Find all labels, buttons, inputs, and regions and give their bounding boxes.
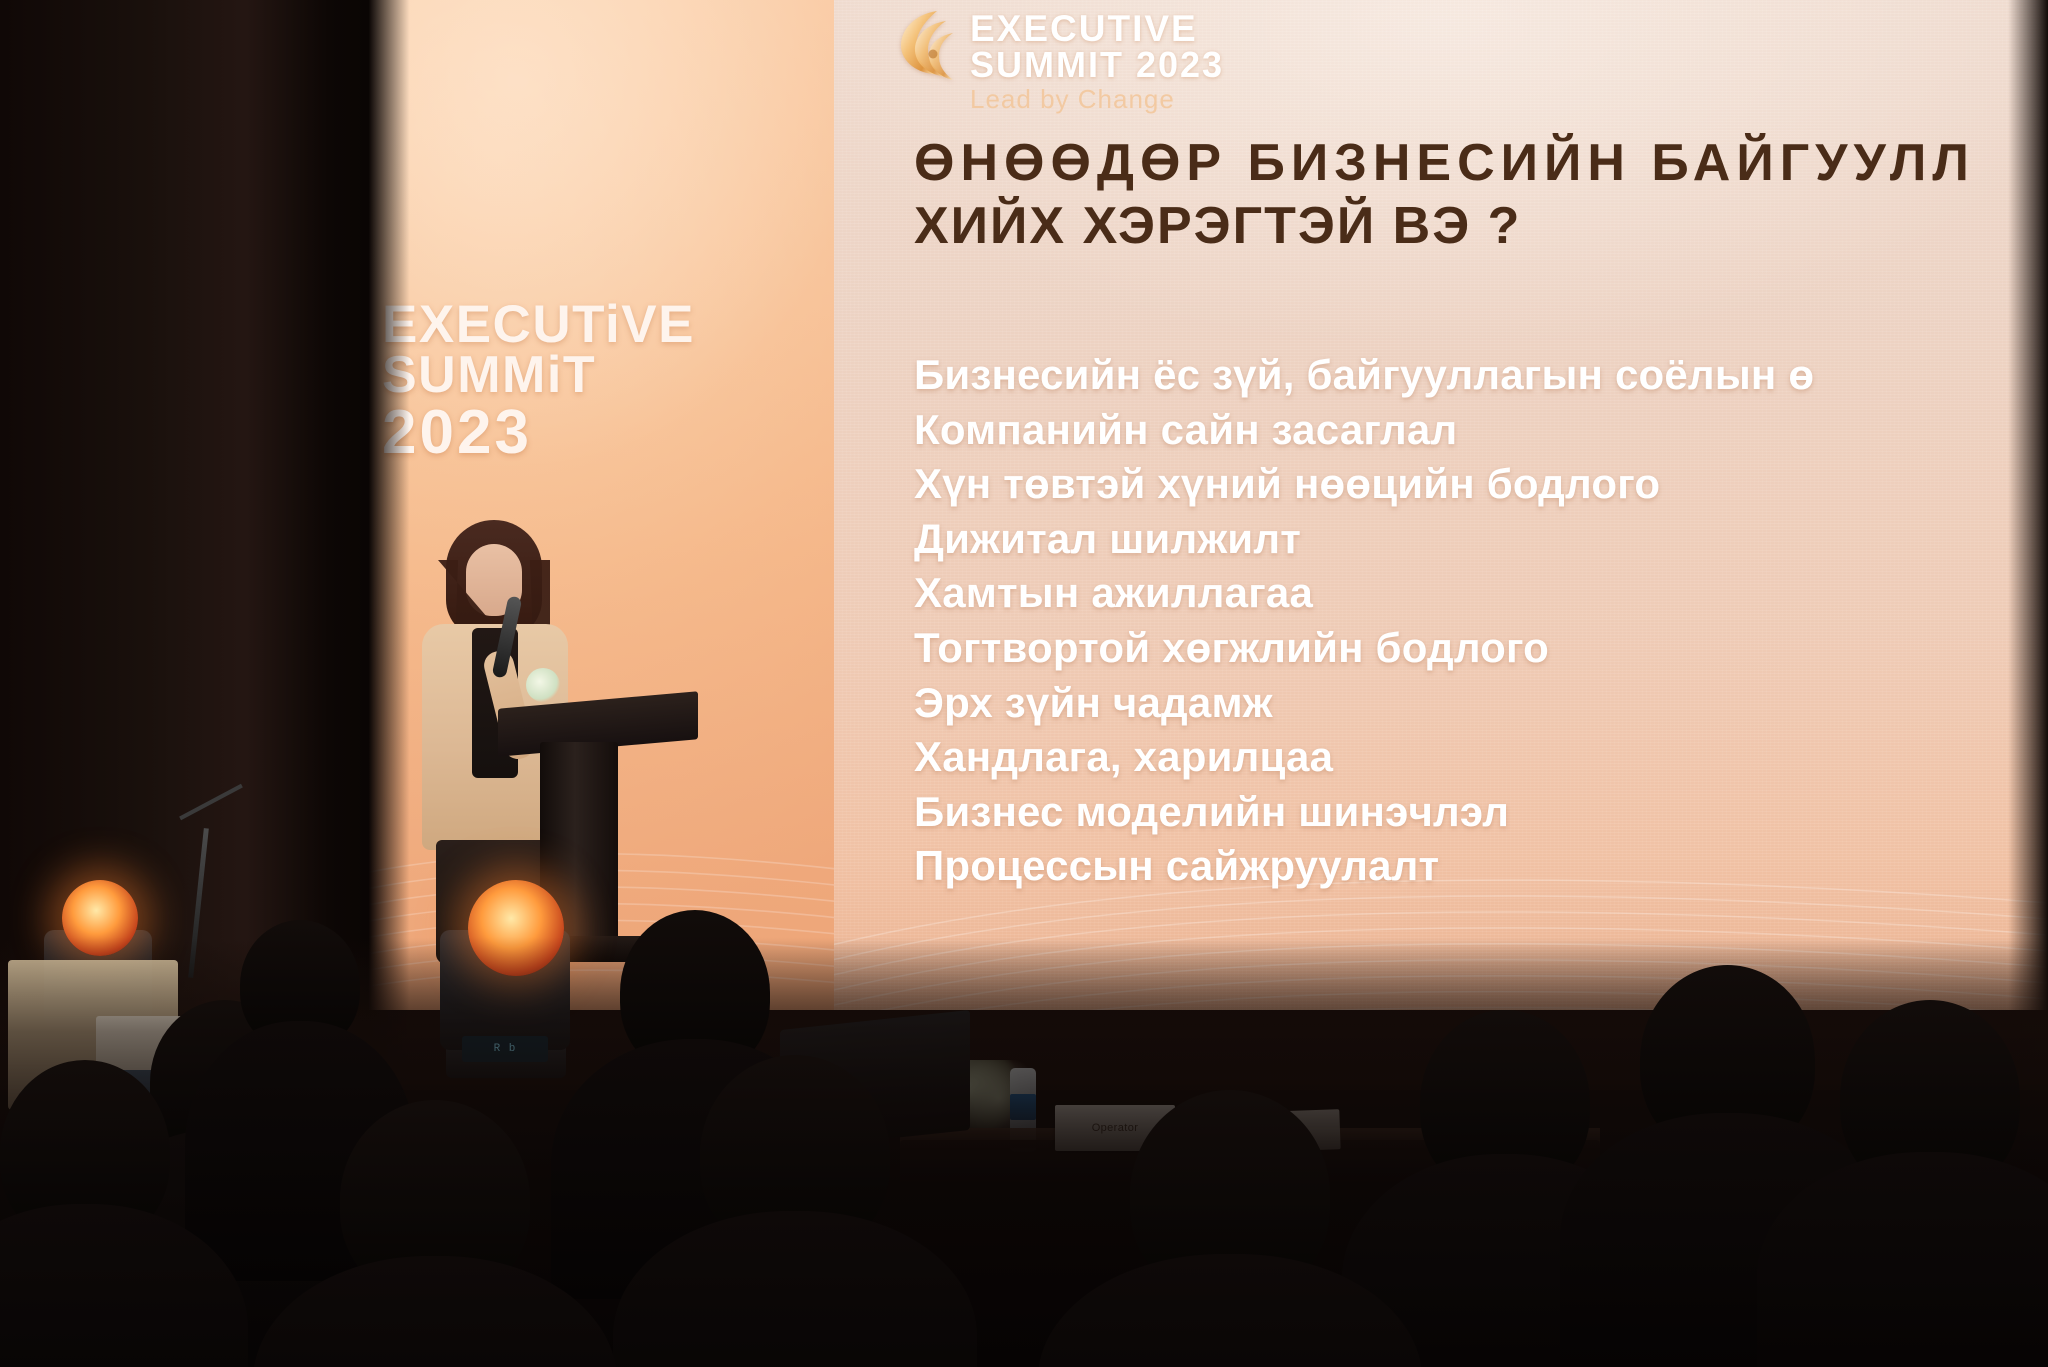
slide-header-logo: EXECUTIVE SUMMIT 2023 Lead by Change (894, 6, 1224, 112)
banner-year: 2023 (382, 403, 695, 463)
bullet-item: Эрх зүйн чадамж (914, 676, 2048, 731)
swirl-logo-icon (276, 300, 368, 410)
bullet-item: Дижитал шилжилт (914, 512, 2048, 567)
audience-head (1420, 1010, 1590, 1195)
slide-title: ӨНӨӨДӨР БИЗНЕСИЙН БАЙГУУЛЛ ХИЙХ ХЭРЭГТЭЙ… (914, 132, 2048, 259)
banner-line-2: SUMMiT (382, 351, 695, 401)
bullet-item: Хандлага, харилцаа (914, 730, 2048, 785)
audience-head (1840, 1000, 2020, 1195)
projection-screen: EXECUTIVE SUMMIT 2023 Lead by Change ӨНӨ… (834, 0, 2048, 1010)
slide-header-line-2: SUMMIT 2023 (970, 47, 1224, 83)
audience-head (1130, 1090, 1330, 1300)
banner-logo: EXECUTiVE SUMMiT 2023 (276, 300, 796, 462)
conference-stage-scene: EXECUTiVE SUMMiT 2023 (0, 0, 2048, 1367)
bullet-items: Бизнесийн ёс зүй, байгууллагын соёлын өК… (914, 348, 2048, 894)
audience-head (240, 920, 360, 1050)
audience-head (700, 1055, 890, 1255)
bullet-item: Процессын сайжруулалт (914, 839, 2048, 894)
mic-boom-arm (179, 784, 243, 820)
swirl-logo-icon (894, 6, 958, 84)
slide-bullet-list: Бизнесийн ёс зүй, байгууллагын соёлын өК… (914, 348, 2048, 894)
banner-glow (268, 0, 834, 505)
bullet-item: Тогтвортой хөгжлийн бодлого (914, 621, 2048, 676)
floral-corsage (526, 668, 560, 702)
slide-title-line-1: ӨНӨӨДӨР БИЗНЕСИЙН БАЙГУУЛЛ (914, 132, 2048, 195)
slide-title-line-2: ХИЙХ ХЭРЭГТЭЙ ВЭ ? (914, 195, 2048, 258)
slide-header-tagline: Lead by Change (970, 86, 1224, 112)
bullet-item: Бизнес моделийн шинэчлэл (914, 785, 2048, 840)
audience-head (1640, 965, 1815, 1155)
bullet-item: Компанийн сайн засаглал (914, 403, 2048, 458)
slide-header-line-1: EXECUTIVE (970, 10, 1224, 47)
audience-head (340, 1100, 530, 1300)
bullet-item: Хүн төвтэй хүний нөөцийн бодлого (914, 457, 2048, 512)
audience-head (0, 1060, 170, 1245)
banner-line-1: EXECUTiVE (382, 300, 695, 351)
audience-head (620, 910, 770, 1075)
bullet-item: Бизнесийн ёс зүй, байгууллагын соёлын ө (914, 348, 2048, 403)
bullet-item: Хамтын ажиллагаа (914, 566, 2048, 621)
